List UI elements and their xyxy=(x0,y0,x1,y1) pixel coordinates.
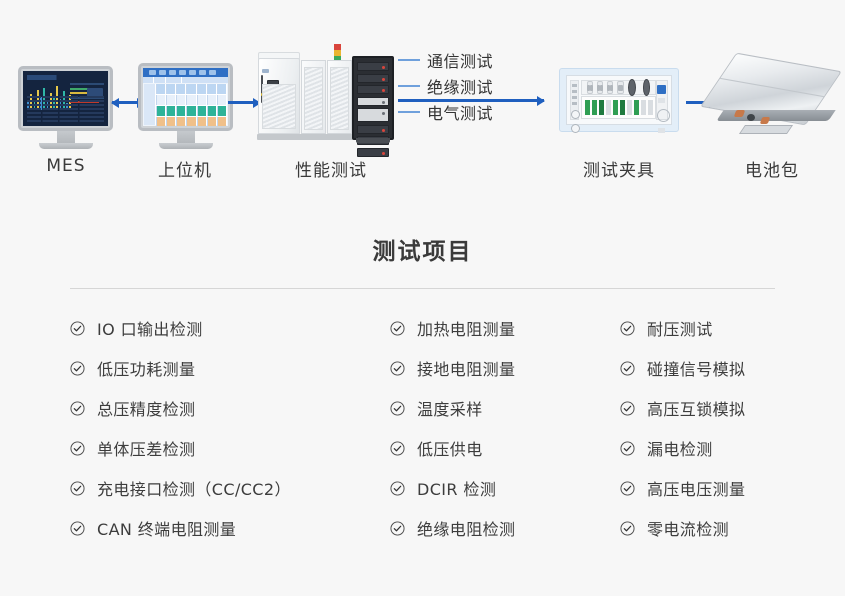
equipment-rack xyxy=(352,56,394,140)
cabinet-main-unit xyxy=(258,58,300,134)
check-circle-icon xyxy=(390,321,405,336)
client-sidebar xyxy=(144,84,155,125)
process-flow-diagram: MES xyxy=(0,0,845,200)
check-circle-icon xyxy=(620,481,635,496)
test-item-label: 高压电压测量 xyxy=(647,476,745,500)
check-circle-icon xyxy=(390,361,405,376)
cabinet-logo xyxy=(262,69,269,73)
host-light-client xyxy=(143,68,228,126)
flow-label-test-fixture: 测试夹具 xyxy=(539,156,699,181)
list-item: 漏电检测 xyxy=(620,428,780,468)
flow-node-battery-pack xyxy=(712,62,842,142)
list-item: 单体压差检测 xyxy=(70,428,390,468)
test-item-label: 总压精度检测 xyxy=(97,396,195,420)
dashboard-table xyxy=(27,96,104,122)
check-circle-icon xyxy=(620,361,635,376)
dashboard-header-bar xyxy=(27,75,104,80)
fixture-card xyxy=(627,100,632,115)
fixture-card xyxy=(634,100,639,115)
flow-label-host-computer: 上位机 xyxy=(105,156,265,181)
flow-node-test-fixture xyxy=(559,68,679,132)
monitor-base xyxy=(39,143,93,149)
fixture-brand-badge xyxy=(657,85,666,94)
test-item-label: 高压互锁模拟 xyxy=(647,396,745,420)
fixture-connector-row xyxy=(581,80,657,95)
monitor-frame xyxy=(18,66,113,131)
test-item-label: 单体压差检测 xyxy=(97,436,195,460)
check-circle-icon xyxy=(390,401,405,416)
fixture-card xyxy=(606,100,611,115)
flow-node-host-computer xyxy=(138,63,233,149)
fixture-connector xyxy=(587,81,593,94)
list-item: 接地电阻测量 xyxy=(390,348,620,388)
fixture-slot xyxy=(658,98,665,103)
list-item: 温度采样 xyxy=(390,388,620,428)
fixture-fan-icon xyxy=(643,79,651,96)
page-root: MES xyxy=(0,0,845,596)
cabinet-base-plinth xyxy=(257,134,353,140)
fixture-card xyxy=(599,100,604,115)
test-items-column-2: 加热电阻测量 接地电阻测量 温度采样 低压供电 DCIR 检测 绝缘电阻检测 xyxy=(390,308,620,548)
flow-node-performance-test xyxy=(258,50,354,140)
door-vent-grille xyxy=(304,67,323,130)
connector-host-to-performance xyxy=(228,101,260,104)
test-item-label: 充电接口检测（CC/CC2） xyxy=(97,476,291,500)
list-item: CAN 终端电阻测量 xyxy=(70,508,390,548)
test-cabinet xyxy=(258,50,354,140)
fixture-card xyxy=(620,100,625,115)
rack-unit xyxy=(357,62,389,71)
rack-unit xyxy=(357,108,389,122)
check-circle-icon xyxy=(390,521,405,536)
fixture-connector xyxy=(617,81,623,94)
list-item: 绝缘电阻检测 xyxy=(390,508,620,548)
page-title: 测试项目 xyxy=(0,232,845,266)
callout-dash-icon xyxy=(398,85,420,87)
rack-base xyxy=(356,138,390,143)
client-data-grid xyxy=(155,84,227,125)
test-item-label: IO 口输出检测 xyxy=(97,316,203,340)
test-item-label: 耐压测试 xyxy=(647,316,713,340)
fixture-dial xyxy=(657,109,670,122)
rack-unit xyxy=(357,97,389,106)
list-item: 碰撞信号模拟 xyxy=(620,348,780,388)
connector-performance-to-fixture xyxy=(398,99,544,102)
test-items-column-1: IO 口输出检测 低压功耗测量 总压精度检测 单体压差检测 充电接口检测（CC/… xyxy=(70,308,390,548)
list-item: DCIR 检测 xyxy=(390,468,620,508)
client-ribbon-toolbar xyxy=(143,68,228,77)
list-item: 零电流检测 xyxy=(620,508,780,548)
host-client-screen xyxy=(143,68,228,126)
fixture-connector xyxy=(597,81,603,94)
fixture-card xyxy=(648,100,653,115)
battery-pack-front-plate xyxy=(739,125,793,134)
fixture-card xyxy=(585,100,590,115)
monitor-base xyxy=(159,143,213,149)
check-circle-icon xyxy=(620,441,635,456)
test-item-label: 漏电检测 xyxy=(647,436,713,460)
fixture-slot xyxy=(658,128,665,133)
callout-label: 绝缘测试 xyxy=(427,74,493,98)
check-circle-icon xyxy=(70,521,85,536)
check-circle-icon xyxy=(620,321,635,336)
fixture-left-panel xyxy=(570,80,579,120)
list-item: 充电接口检测（CC/CC2） xyxy=(70,468,390,508)
mes-dashboard-screen xyxy=(23,71,108,126)
fixture-chassis xyxy=(566,75,672,125)
test-item-label: 低压供电 xyxy=(417,436,483,460)
callout-electrical-test: 电气测试 xyxy=(398,99,493,125)
check-circle-icon xyxy=(70,481,85,496)
rack-unit xyxy=(357,125,389,134)
test-item-label: 温度采样 xyxy=(417,396,483,420)
door-vent-grille xyxy=(330,67,349,130)
list-item: 加热电阻测量 xyxy=(390,308,620,348)
monitor-neck xyxy=(57,131,75,143)
test-item-label: 零电流检测 xyxy=(647,516,729,540)
callout-insulation-test: 绝缘测试 xyxy=(398,73,493,99)
cabinet-door-right xyxy=(327,60,352,134)
fixture-knob xyxy=(571,124,580,133)
check-circle-icon xyxy=(70,361,85,376)
fixture-card-cage xyxy=(581,96,657,119)
list-item: 耐压测试 xyxy=(620,308,780,348)
test-item-label: DCIR 检测 xyxy=(417,476,496,500)
mes-dark-dashboard xyxy=(23,71,108,126)
battery-pack-connector xyxy=(760,117,771,124)
rack-unit xyxy=(357,85,389,94)
client-tab-strip xyxy=(143,77,228,83)
list-item: 低压功耗测量 xyxy=(70,348,390,388)
check-circle-icon xyxy=(390,441,405,456)
test-items-grid: IO 口输出检测 低压功耗测量 总压精度检测 单体压差检测 充电接口检测（CC/… xyxy=(70,308,780,548)
test-item-label: 接地电阻测量 xyxy=(417,356,515,380)
check-circle-icon xyxy=(70,401,85,416)
battery-pack-connector xyxy=(747,114,755,121)
test-item-label: 绝缘电阻检测 xyxy=(417,516,515,540)
monitor-frame xyxy=(138,63,233,131)
list-item: IO 口输出检测 xyxy=(70,308,390,348)
callout-dash-icon xyxy=(398,59,420,61)
test-item-label: CAN 终端电阻测量 xyxy=(97,516,236,540)
test-items-column-3: 耐压测试 碰撞信号模拟 高压互锁模拟 漏电检测 高压电压测量 零电流检测 xyxy=(620,308,780,548)
test-item-label: 低压功耗测量 xyxy=(97,356,195,380)
flow-label-performance-test: 性能测试 xyxy=(251,156,411,181)
fixture-card xyxy=(613,100,618,115)
monitor-neck xyxy=(177,131,195,143)
fixture-card xyxy=(592,100,597,115)
flow-label-battery-pack: 电池包 xyxy=(692,156,845,181)
rack-unit xyxy=(357,74,389,83)
fixture-fan-icon xyxy=(628,79,636,96)
check-circle-icon xyxy=(620,401,635,416)
callout-communication-test: 通信测试 xyxy=(398,47,493,73)
callout-label: 通信测试 xyxy=(427,48,493,72)
test-type-callouts: 通信测试 绝缘测试 电气测试 xyxy=(398,47,493,125)
flow-node-mes xyxy=(18,66,113,149)
list-item: 低压供电 xyxy=(390,428,620,468)
cabinet-vent-grille xyxy=(262,84,296,128)
test-item-label: 加热电阻测量 xyxy=(417,316,515,340)
cabinet-door-left xyxy=(301,60,326,134)
test-item-label: 碰撞信号模拟 xyxy=(647,356,745,380)
section-divider xyxy=(70,288,775,289)
callout-label: 电气测试 xyxy=(427,100,493,124)
list-item: 高压互锁模拟 xyxy=(620,388,780,428)
check-circle-icon xyxy=(390,481,405,496)
check-circle-icon xyxy=(620,521,635,536)
callout-dash-icon xyxy=(398,111,420,113)
check-circle-icon xyxy=(70,441,85,456)
fixture-connector xyxy=(607,81,613,94)
list-item: 总压精度检测 xyxy=(70,388,390,428)
list-item: 高压电压测量 xyxy=(620,468,780,508)
check-circle-icon xyxy=(70,321,85,336)
fixture-card xyxy=(641,100,646,115)
fixture-knob xyxy=(571,110,580,119)
fixture-right-panel xyxy=(656,80,668,120)
